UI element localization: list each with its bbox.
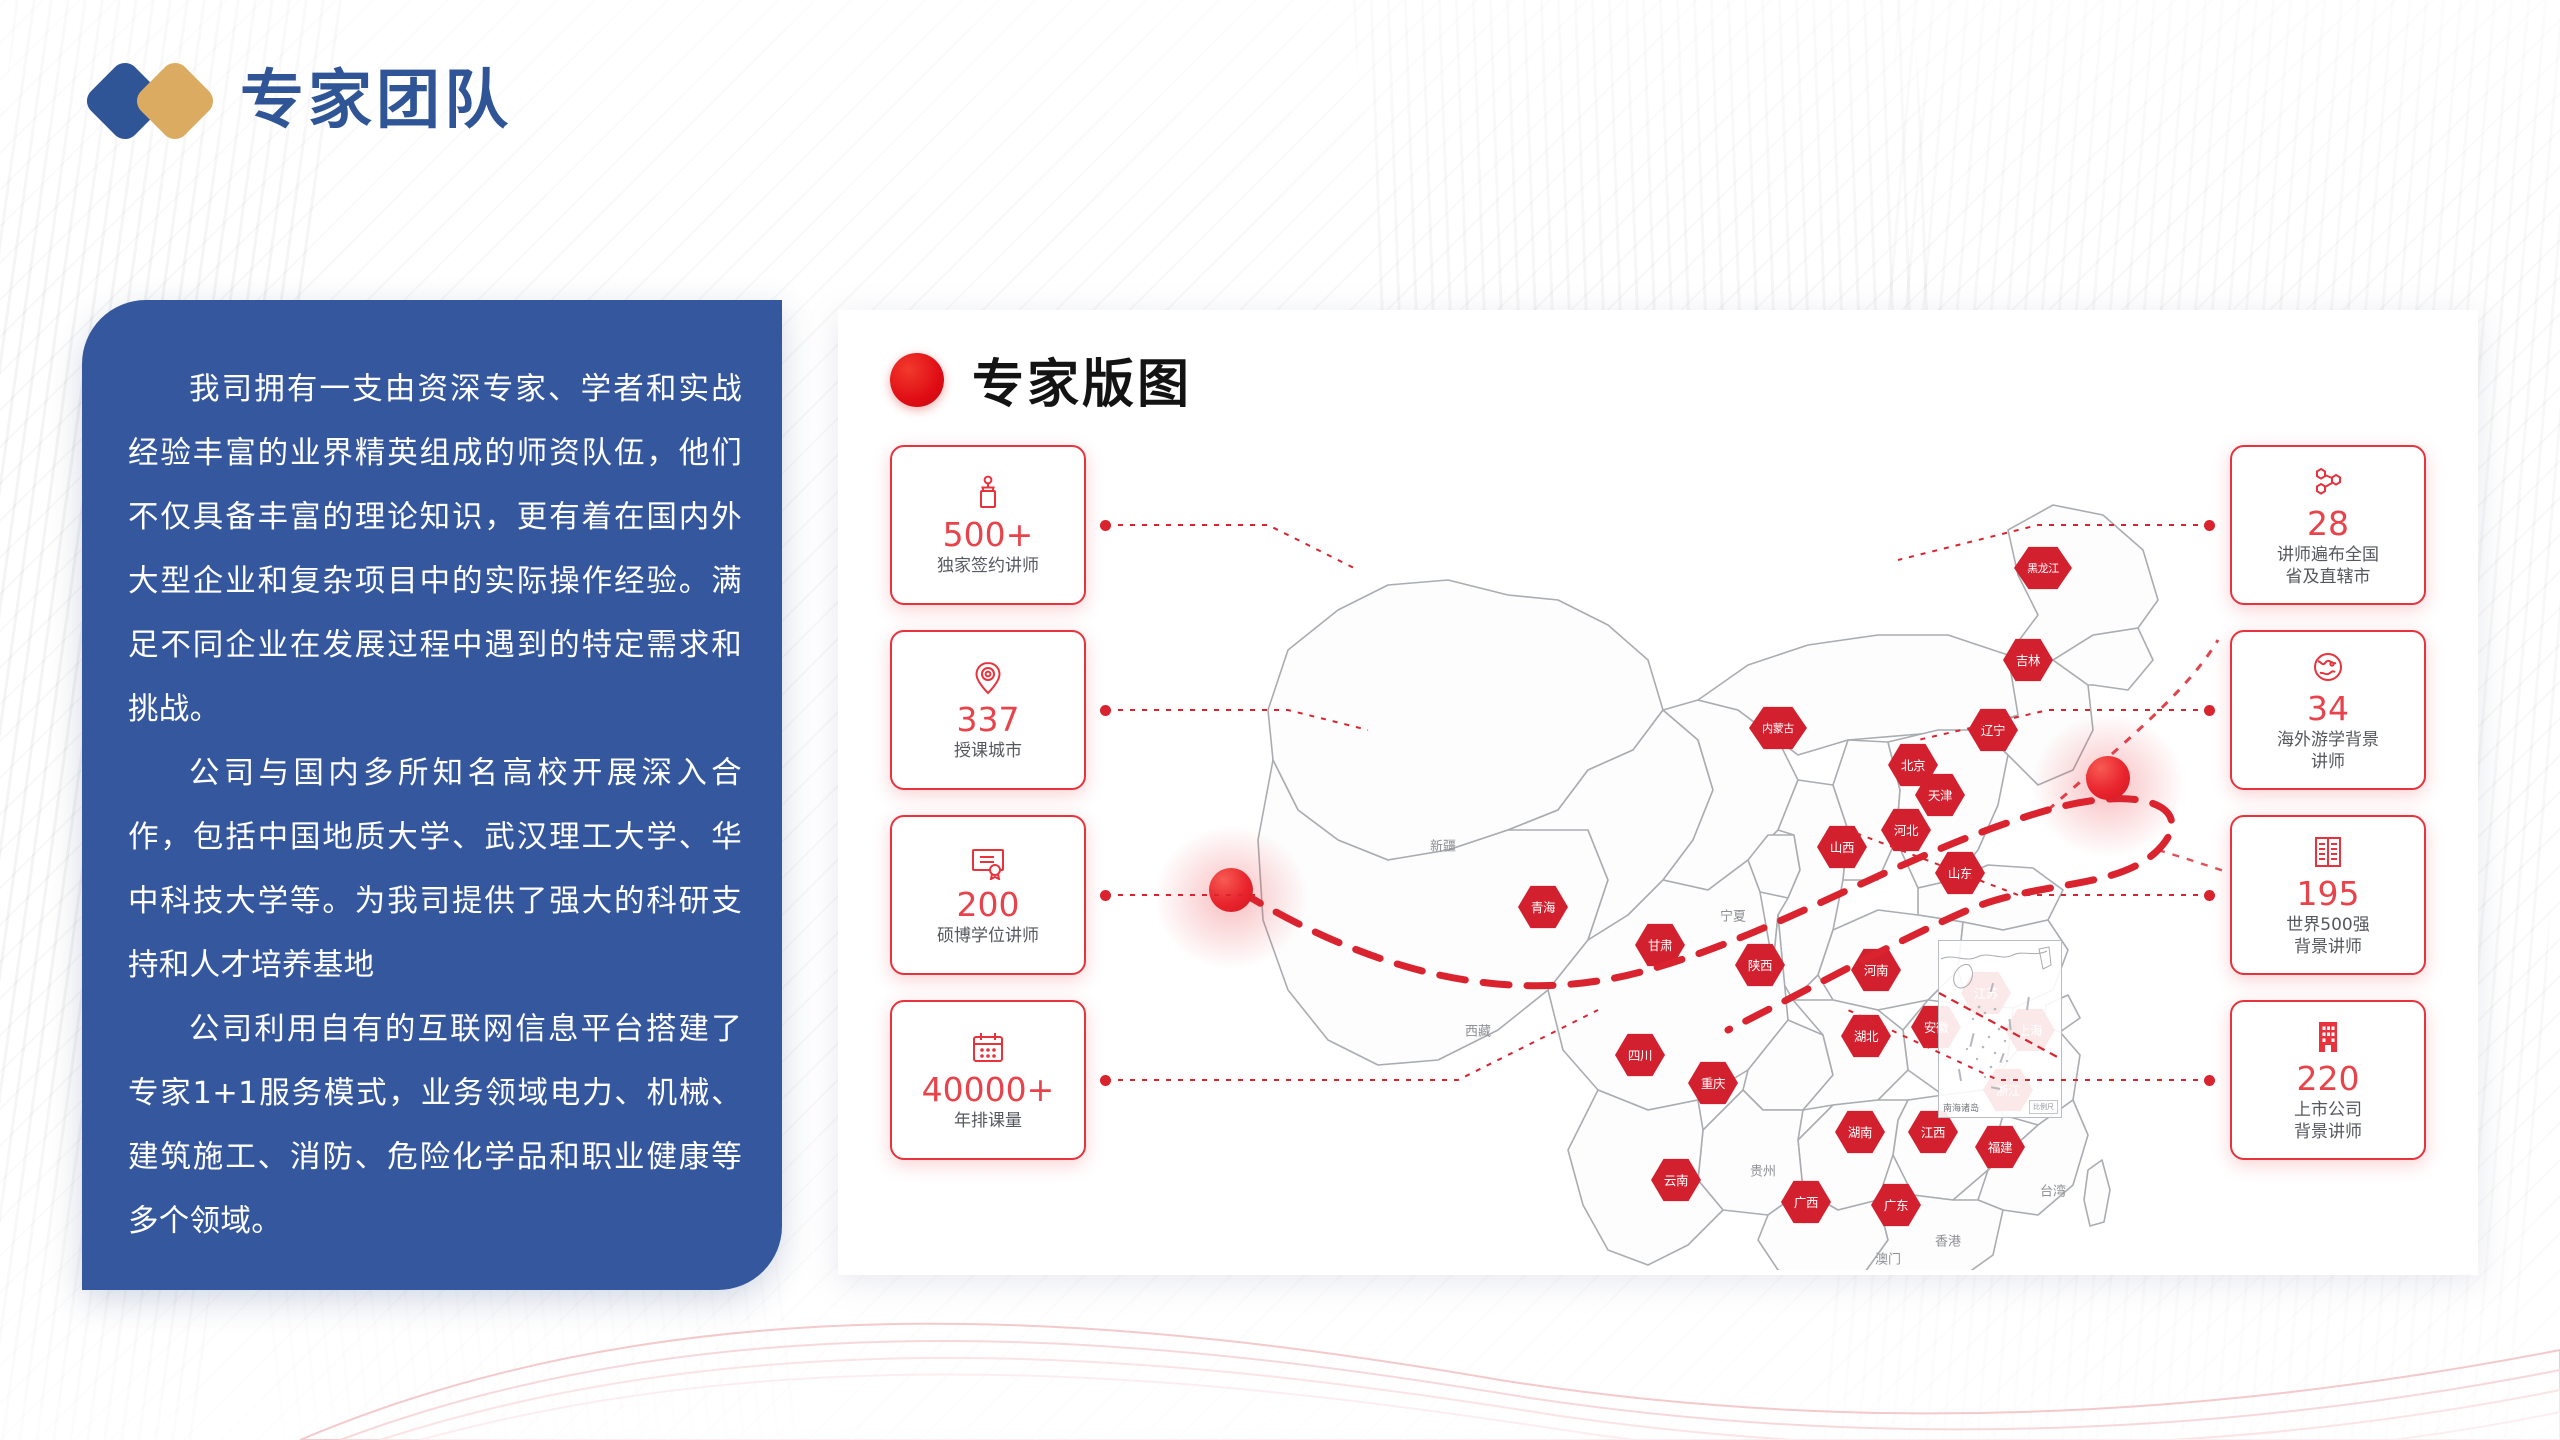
intro-text-panel: 我司拥有一支由资深专家、学者和实战经验丰富的业界精英组成的师资队伍，他们不仅具备… [82, 300, 782, 1290]
intro-paragraph-3: 公司利用自有的互联网信息平台搭建了专家1+1服务模式，业务领域电力、机械、建筑施… [128, 998, 742, 1254]
map-card-title: 专家版图 [972, 342, 1192, 417]
province-label: 贵州 [1750, 1161, 1776, 1180]
connector-dot [2204, 1075, 2215, 1086]
stat-value: 28 [2307, 504, 2349, 544]
stat-label: 海外游学背景 讲师 [2271, 729, 2385, 773]
connector-dot [1100, 890, 1111, 901]
connector-dot [1100, 1075, 1111, 1086]
map-card-header: 专家版图 [890, 342, 1192, 417]
stat-label: 讲师遍布全国 省及直辖市 [2271, 544, 2385, 588]
stat-card-advanced-degree-lecturers[interactable]: 200 硕博学位讲师 [890, 815, 1086, 975]
stat-value: 220 [2297, 1059, 2360, 1099]
connector-dot [2204, 520, 2215, 531]
stat-card-overseas-study-lecturers[interactable]: 34 海外游学背景 讲师 [2230, 630, 2426, 790]
stat-card-fortune500-lecturers[interactable]: 195 世界500强 背景讲师 [2230, 815, 2426, 975]
stat-value: 500+ [943, 515, 1034, 555]
sea-inset-map [1939, 941, 2061, 1117]
glow-marker [2086, 756, 2130, 800]
stat-label: 授课城市 [948, 740, 1028, 762]
stat-label: 独家签约讲师 [931, 555, 1045, 577]
red-circle-icon [890, 353, 944, 407]
globe-icon [2310, 647, 2346, 687]
network-share-icon [2310, 462, 2346, 502]
province-label: 西藏 [1465, 1021, 1491, 1040]
stat-card-teaching-cities[interactable]: 337 授课城市 [890, 630, 1086, 790]
connector-dot [1100, 520, 1111, 531]
stat-card-listed-company-lecturers[interactable]: 220 上市公司 背景讲师 [2230, 1000, 2426, 1160]
glow-marker [1209, 868, 1253, 912]
province-label: 澳门 [1875, 1249, 1901, 1268]
stat-value: 200 [957, 885, 1020, 925]
expert-map-card: 专家版图 500+ 独家签约讲师 [838, 310, 2478, 1275]
sea-inset-scale-tag: 比例尺 [2029, 1100, 2058, 1114]
stat-value: 337 [957, 700, 1020, 740]
stat-label: 硕博学位讲师 [931, 925, 1045, 947]
china-map: 黑龙江 吉林 辽宁 内蒙古 北京 天津 河北 山西 山东 青海 甘肃 陕西 河南… [1088, 410, 2228, 1270]
connector-dot [2204, 890, 2215, 901]
province-label: 宁夏 [1720, 906, 1746, 925]
stat-label: 世界500强 背景讲师 [2280, 914, 2375, 958]
map-pin-icon [972, 658, 1004, 698]
page-header: 专家团队 [0, 0, 2560, 190]
lectern-icon [971, 473, 1005, 513]
stat-label: 上市公司 背景讲师 [2288, 1099, 2368, 1143]
stat-value: 34 [2307, 689, 2349, 729]
stat-card-exclusive-lecturers[interactable]: 500+ 独家签约讲师 [890, 445, 1086, 605]
intro-paragraph-2: 公司与国内多所知名高校开展深入合作，包括中国地质大学、武汉理工大学、华中科技大学… [128, 742, 742, 998]
stat-value: 40000+ [922, 1070, 1055, 1110]
calendar-icon [970, 1028, 1006, 1068]
province-label: 台湾 [2040, 1181, 2066, 1200]
logo [92, 62, 240, 142]
stat-label: 年排课量 [948, 1110, 1028, 1132]
intro-paragraph-1: 我司拥有一支由资深专家、学者和实战经验丰富的业界精英组成的师资队伍，他们不仅具备… [128, 358, 742, 742]
stat-card-province-coverage[interactable]: 28 讲师遍布全国 省及直辖市 [2230, 445, 2426, 605]
sea-inset-caption: 南海诸岛 [1943, 1101, 1979, 1114]
page-title: 专家团队 [240, 58, 512, 144]
province-label: 新疆 [1430, 836, 1456, 855]
connector-dot [1100, 705, 1111, 716]
office-tower-icon [2312, 1017, 2344, 1057]
diploma-icon [969, 843, 1007, 883]
south-china-sea-inset: 南海诸岛 比例尺 [1938, 940, 2062, 1118]
stat-card-annual-courses[interactable]: 40000+ 年排课量 [890, 1000, 1086, 1160]
connector-dot [2204, 705, 2215, 716]
province-label: 香港 [1935, 1231, 1961, 1250]
logo-diamond-gold-icon [131, 57, 219, 145]
buildings-icon [2311, 832, 2345, 872]
stat-value: 195 [2297, 874, 2360, 914]
